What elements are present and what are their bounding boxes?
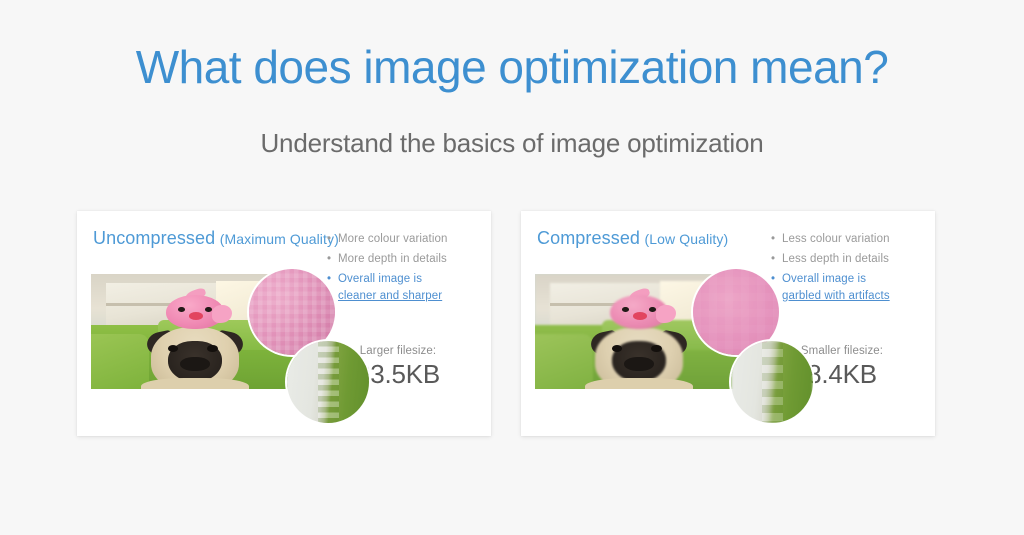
accent-line-2: garbled with artifacts (782, 290, 890, 302)
card-title-main: Compressed (537, 228, 640, 248)
card-title-main: Uncompressed (93, 228, 215, 248)
card-title-sub: (Low Quality) (645, 231, 729, 247)
benefits-list-uncompressed: More colour variation More depth in deta… (327, 231, 477, 308)
page-title: What does image optimization mean? (0, 42, 1024, 93)
photo-pug-muzzle (624, 357, 653, 371)
accent-line-2: cleaner and sharper (338, 290, 442, 302)
accent-line-1: Overall image is (782, 273, 866, 285)
photo-comparison-stage (91, 269, 341, 419)
list-item-accent: Overall image is garbled with artifacts (771, 271, 921, 305)
photo-pug-chest (585, 378, 693, 390)
accent-line-1: Overall image is (338, 273, 422, 285)
photo-pug-chest (141, 378, 249, 390)
list-item: Less depth in details (771, 251, 921, 268)
photo-plush-beak (189, 312, 204, 320)
magnifier-blocks (762, 341, 783, 423)
list-item-accent: Overall image is cleaner and sharper (327, 271, 477, 305)
list-item: Less colour variation (771, 231, 921, 248)
card-title-sub: (Maximum Quality) (220, 231, 339, 247)
list-item: More depth in details (327, 251, 477, 268)
magnifier-blocks (318, 341, 339, 423)
photo-sofa-armrest (91, 334, 149, 389)
card-title-uncompressed: Uncompressed (Maximum Quality) (93, 228, 339, 249)
list-item: More colour variation (327, 231, 477, 248)
magnifier-circle-sofa-edge-detail (731, 341, 813, 423)
page-subtitle: Understand the basics of image optimizat… (0, 128, 1024, 159)
benefits-list-compressed: Less colour variation Less depth in deta… (771, 231, 921, 308)
comparison-card-compressed: Compressed (Low Quality) Less colour var… (521, 211, 935, 436)
comparison-card-uncompressed: Uncompressed (Maximum Quality) More colo… (77, 211, 491, 436)
card-title-compressed: Compressed (Low Quality) (537, 228, 728, 249)
photo-comparison-stage (535, 269, 785, 419)
magnifier-circle-sofa-edge-detail (287, 341, 369, 423)
photo-sofa-armrest (535, 334, 593, 389)
photo-pug-muzzle (180, 357, 209, 371)
photo-plush-beak (633, 312, 648, 320)
